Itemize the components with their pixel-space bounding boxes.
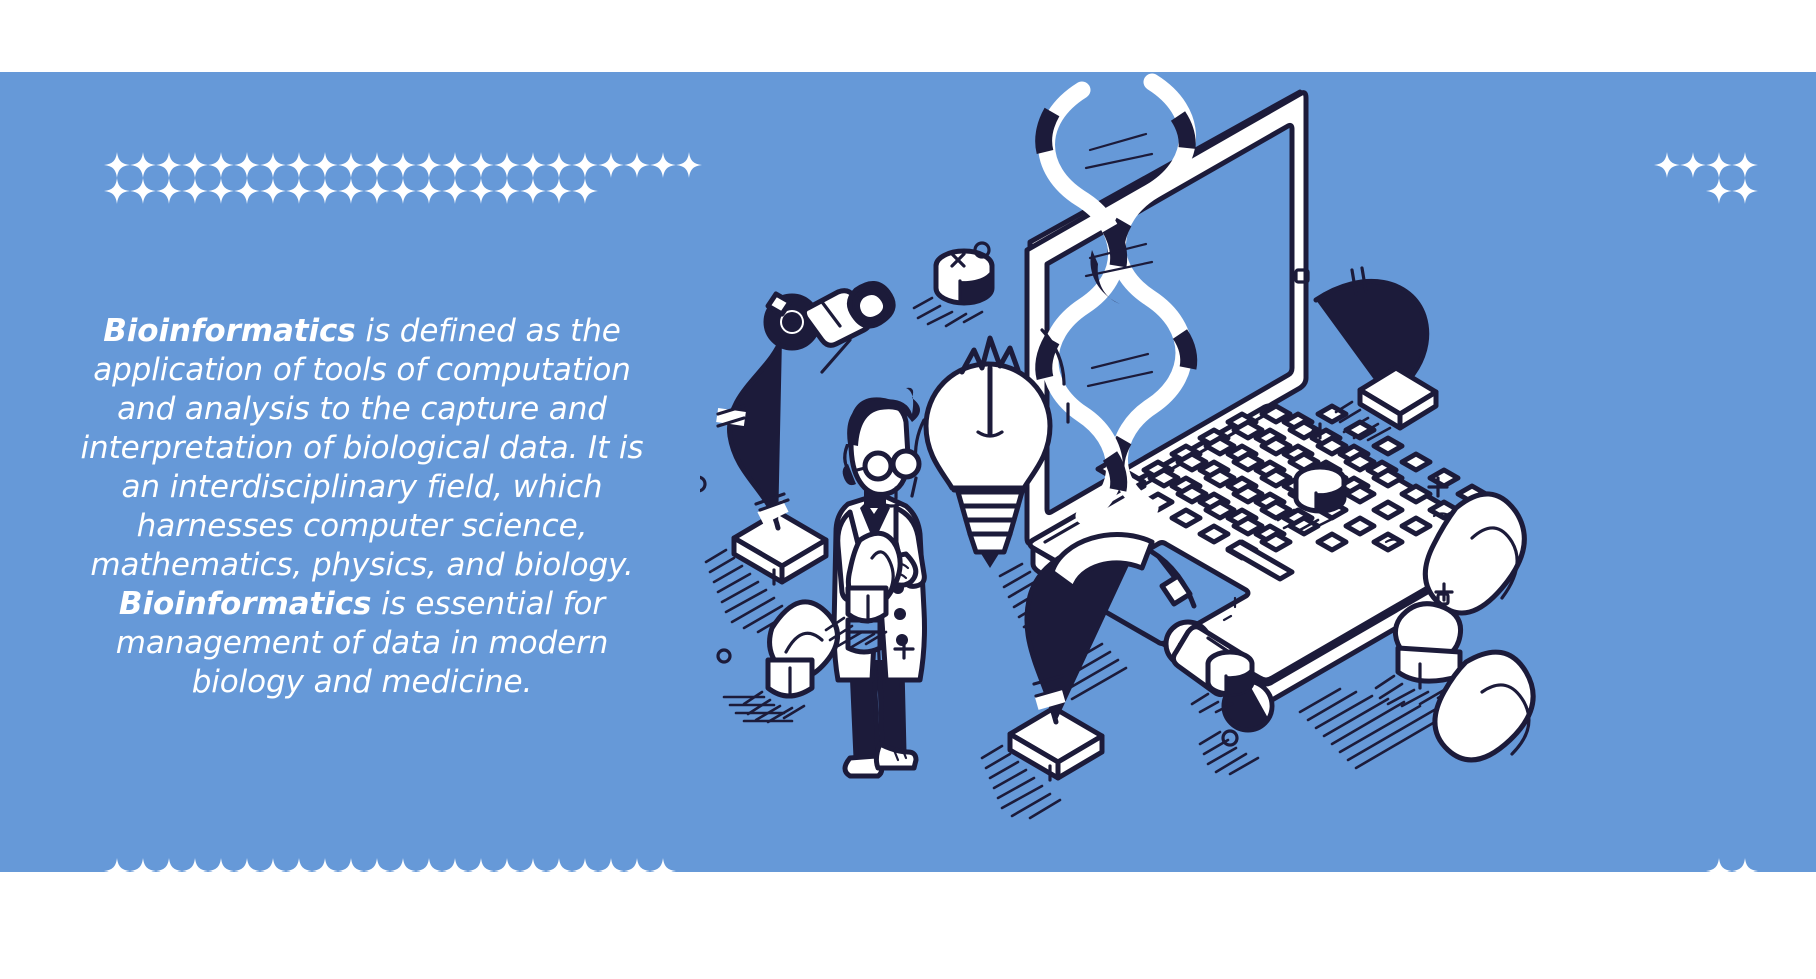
four-point-star-icon	[572, 178, 598, 204]
four-point-star-icon	[494, 858, 520, 872]
four-point-star-icon	[650, 152, 676, 178]
decoration-bottom-left	[104, 858, 702, 872]
four-point-star-icon	[494, 152, 520, 178]
four-point-star-icon	[104, 178, 130, 204]
four-point-star-icon	[442, 858, 468, 872]
four-point-star-icon	[364, 858, 390, 872]
four-point-star-icon	[182, 858, 208, 872]
four-point-star-icon	[234, 178, 260, 204]
four-point-star-icon	[546, 152, 572, 178]
banner: Bioinformatics is defined as the applica…	[0, 72, 1816, 872]
four-point-star-icon	[338, 178, 364, 204]
four-point-star-icon	[624, 858, 650, 872]
four-point-star-icon	[182, 178, 208, 204]
bioinformatics-illustration: .ink { fill:#1c1b3a; } .wht { fill:#ffff…	[700, 72, 1816, 872]
four-point-star-icon	[520, 858, 546, 872]
four-point-star-icon	[650, 858, 676, 872]
four-point-star-icon	[416, 178, 442, 204]
four-point-star-icon	[260, 178, 286, 204]
decoration-row	[104, 858, 702, 872]
four-point-star-icon	[468, 152, 494, 178]
four-point-star-icon	[234, 858, 260, 872]
four-point-star-icon	[130, 152, 156, 178]
four-point-star-icon	[260, 152, 286, 178]
four-point-star-icon	[208, 858, 234, 872]
four-point-star-icon	[546, 178, 572, 204]
four-point-star-icon	[390, 178, 416, 204]
four-point-star-icon	[286, 178, 312, 204]
four-point-star-icon	[364, 152, 390, 178]
four-point-star-icon	[442, 178, 468, 204]
four-point-star-icon	[312, 858, 338, 872]
description-paragraph: Bioinformatics is defined as the applica…	[72, 312, 652, 702]
four-point-star-icon	[468, 178, 494, 204]
four-point-star-icon	[546, 858, 572, 872]
four-point-star-icon	[156, 152, 182, 178]
four-point-star-icon	[130, 858, 156, 872]
four-point-star-icon	[520, 178, 546, 204]
page-root: Bioinformatics is defined as the applica…	[0, 0, 1816, 979]
decoration-row	[104, 178, 702, 204]
four-point-star-icon	[208, 152, 234, 178]
laptop-shadow-right	[1300, 689, 1452, 768]
four-point-star-icon	[364, 178, 390, 204]
four-point-star-icon	[286, 152, 312, 178]
four-point-star-icon	[572, 858, 598, 872]
four-point-star-icon	[676, 152, 702, 178]
four-point-star-icon	[390, 152, 416, 178]
four-point-star-icon	[598, 858, 624, 872]
four-point-star-icon	[182, 152, 208, 178]
four-point-star-icon	[338, 152, 364, 178]
four-point-star-icon	[520, 152, 546, 178]
four-point-star-icon	[416, 858, 442, 872]
four-point-star-icon	[286, 858, 312, 872]
four-point-star-icon	[624, 152, 650, 178]
four-point-star-icon	[104, 152, 130, 178]
keyword-emphasis: Bioinformatics	[119, 586, 371, 622]
four-point-star-icon	[104, 858, 130, 872]
four-point-star-icon	[338, 858, 364, 872]
four-point-star-icon	[312, 178, 338, 204]
four-point-star-icon	[598, 152, 624, 178]
four-point-star-icon	[572, 152, 598, 178]
four-point-star-icon	[494, 178, 520, 204]
four-point-star-icon	[442, 152, 468, 178]
decoration-top-left	[104, 152, 702, 204]
four-point-star-icon	[208, 178, 234, 204]
keyword-emphasis: Bioinformatics	[103, 313, 355, 349]
four-point-star-icon	[130, 178, 156, 204]
four-point-star-icon	[468, 858, 494, 872]
four-point-star-icon	[416, 152, 442, 178]
paragraph-segment: is defined as the application of tools o…	[81, 313, 644, 583]
decoration-row	[104, 152, 702, 178]
four-point-star-icon	[390, 858, 416, 872]
four-point-star-icon	[260, 858, 286, 872]
four-point-star-icon	[312, 152, 338, 178]
four-point-star-icon	[234, 152, 260, 178]
four-point-star-icon	[156, 858, 182, 872]
four-point-star-icon	[156, 178, 182, 204]
